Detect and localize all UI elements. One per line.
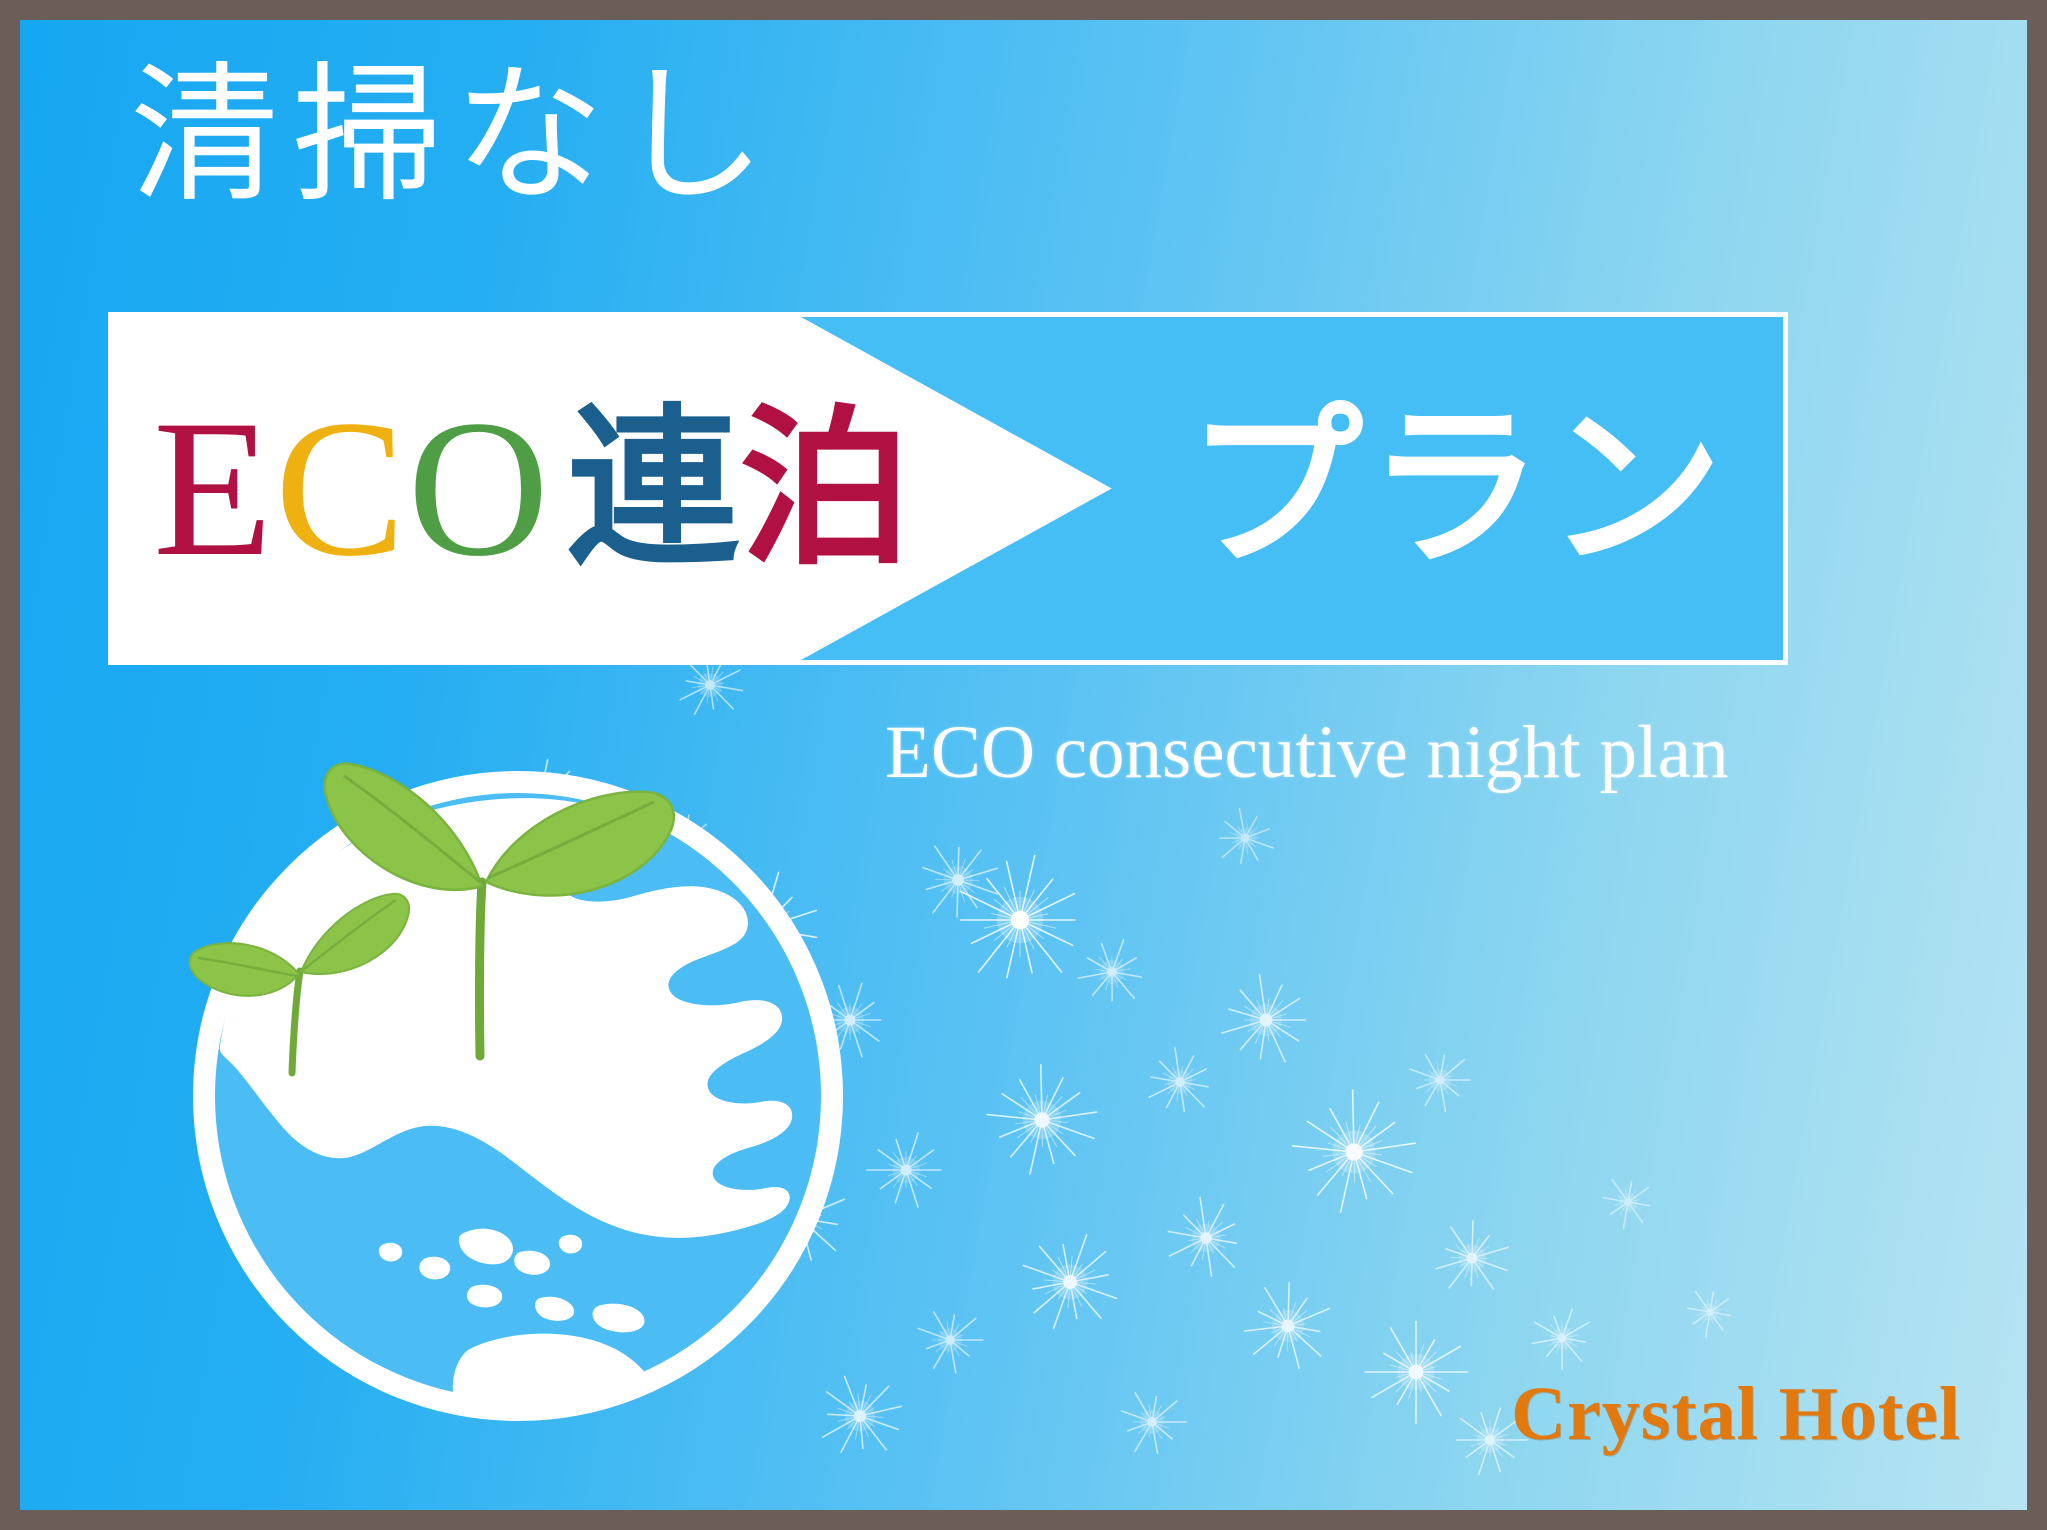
hotel-brand-name: Crystal Hotel: [1511, 1371, 1961, 1458]
sparkle-star-icon: [911, 833, 1005, 927]
sparkle-star-icon: [1141, 1043, 1219, 1121]
eco-plan-label: プラン: [1187, 401, 1727, 577]
sparkle-star-icon: [1284, 1082, 1424, 1222]
sparkle-star-icon: [1073, 933, 1151, 1011]
sparkle-star-icon: [1159, 1191, 1253, 1285]
page-title: 清掃なし: [130, 58, 778, 216]
eco-kanji-haku: 泊: [739, 403, 911, 575]
sparkle-star-icon: [1211, 804, 1279, 872]
eco-banner-box: E C O 連 泊 プラン: [108, 312, 1788, 665]
sparkle-star-icon: [1428, 1214, 1516, 1302]
sparkle-star-icon: [1013, 1225, 1127, 1339]
sparkle-star-icon: [1236, 1274, 1340, 1378]
earth-globe-with-sprouts-icon: [168, 746, 868, 1446]
sparkle-star-icon: [1113, 1383, 1191, 1461]
poster-canvas: 清掃なし E C O 連 泊 プラン ECO consecutive night…: [20, 20, 2027, 1510]
eco-letter-e: E: [153, 391, 275, 587]
sparkle-star-icon: [1681, 1283, 1738, 1340]
subtitle-text: ECO consecutive night plan: [885, 710, 1729, 796]
eco-letter-o: O: [407, 391, 551, 587]
sparkle-star-icon: [1356, 1312, 1476, 1432]
eco-banner-text: E C O 連 泊 プラン: [113, 317, 1783, 660]
sparkle-star-icon: [911, 1301, 989, 1379]
sparkle-star-icon: [1597, 1171, 1659, 1233]
eco-kanji-ren: 連: [567, 403, 739, 575]
eco-letter-c: C: [275, 391, 408, 587]
sparkle-star-icon: [1404, 1044, 1477, 1117]
poster-frame: 清掃なし E C O 連 泊 プラン ECO consecutive night…: [0, 0, 2047, 1530]
sparkle-star-icon: [1214, 968, 1318, 1072]
sparkle-star-icon: [1526, 1302, 1599, 1375]
sparkle-star-icon: [945, 845, 1096, 996]
sparkle-star-icon: [980, 1058, 1105, 1183]
sparkle-star-icon: [862, 1126, 950, 1214]
